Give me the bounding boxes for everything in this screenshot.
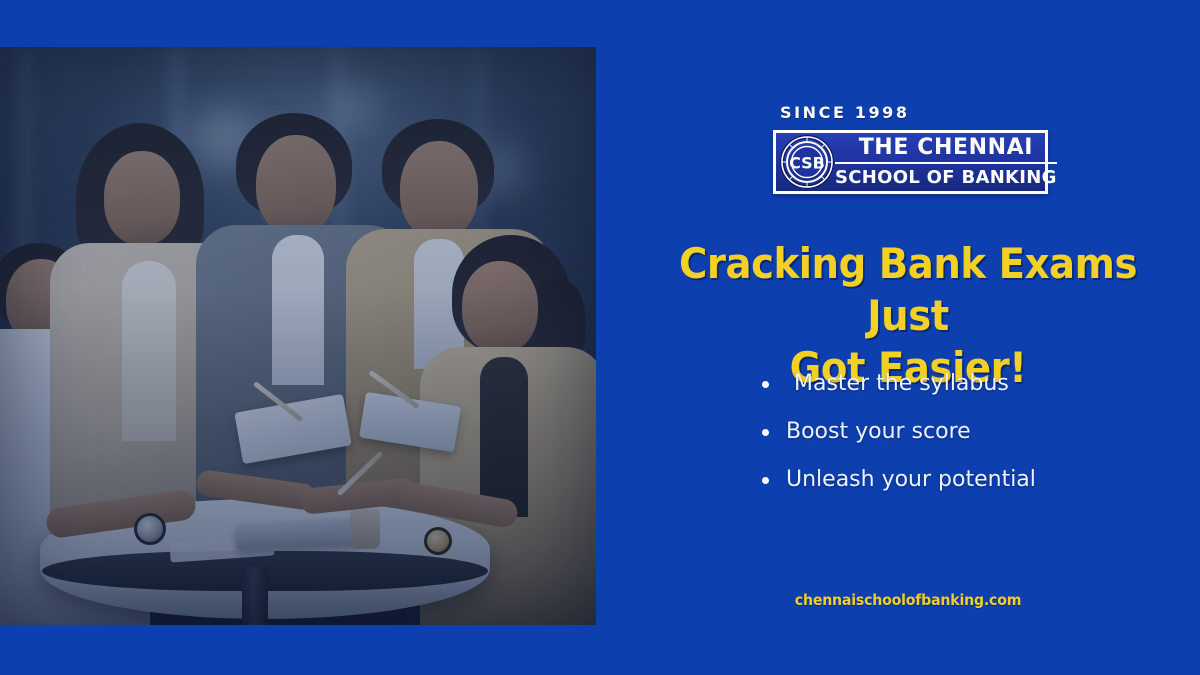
content-panel: SINCE 1998	[616, 0, 1200, 675]
list-item: Boost your score	[756, 418, 1036, 446]
list-item: Master the syllabus	[756, 370, 1036, 398]
csb-emblem-text: CSB	[789, 154, 825, 173]
photo-background	[0, 47, 596, 625]
team-photo	[0, 47, 596, 625]
website-url[interactable]: chennaischoolofbanking.com	[660, 591, 1156, 609]
since-label: SINCE 1998	[780, 103, 910, 122]
photo-vignette	[0, 47, 596, 625]
benefits-list: Master the syllabus Boost your score Unl…	[756, 370, 1036, 514]
list-item: Unleash your potential	[756, 466, 1036, 494]
promo-banner: SINCE 1998	[0, 0, 1200, 675]
brand-name-line2: SCHOOL OF BANKING	[835, 164, 1057, 190]
brand-name: THE CHENNAI SCHOOL OF BANKING	[835, 135, 1063, 190]
brand-name-line1: THE CHENNAI	[835, 135, 1057, 164]
brand-logo[interactable]: CSB THE CHENNAI SCHOOL OF BANKING	[773, 130, 1048, 194]
headline-line1: Cracking Bank Exams Just	[665, 238, 1151, 342]
csb-emblem-icon: CSB	[779, 134, 835, 190]
